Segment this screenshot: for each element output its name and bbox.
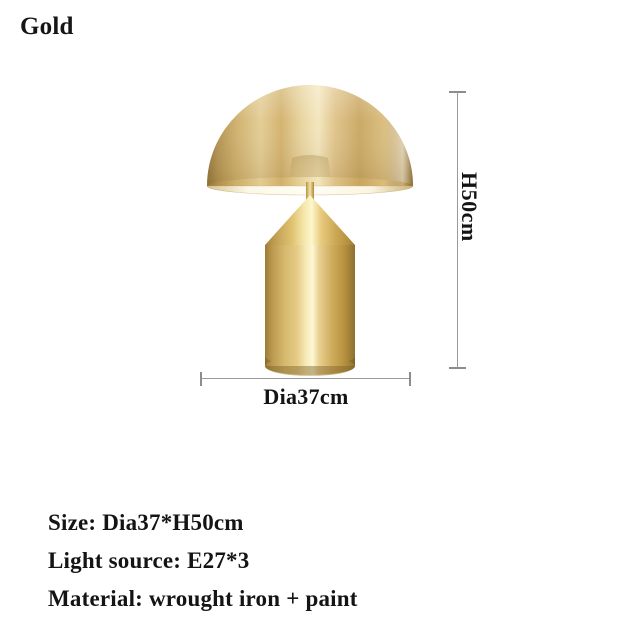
- product-detail-image: Gold: [0, 0, 640, 640]
- color-variant-title: Gold: [20, 14, 74, 39]
- width-dimension-label: Dia37cm: [198, 384, 414, 410]
- width-dimension-stem: [201, 378, 411, 379]
- lamp-product-illustration: [180, 60, 440, 390]
- lamp-shade: [207, 85, 413, 195]
- spec-light-source: Light source: E27*3: [48, 542, 608, 580]
- height-dimension-label: H50cm: [456, 172, 482, 282]
- spec-size: Size: Dia37*H50cm: [48, 504, 608, 542]
- height-dimension-cap-bottom: [449, 367, 466, 369]
- specification-list: Size: Dia37*H50cm Light source: E27*3 Ma…: [48, 504, 608, 618]
- spec-material: Material: wrought iron + paint: [48, 580, 608, 618]
- lamp-base-cylinder: [265, 245, 355, 376]
